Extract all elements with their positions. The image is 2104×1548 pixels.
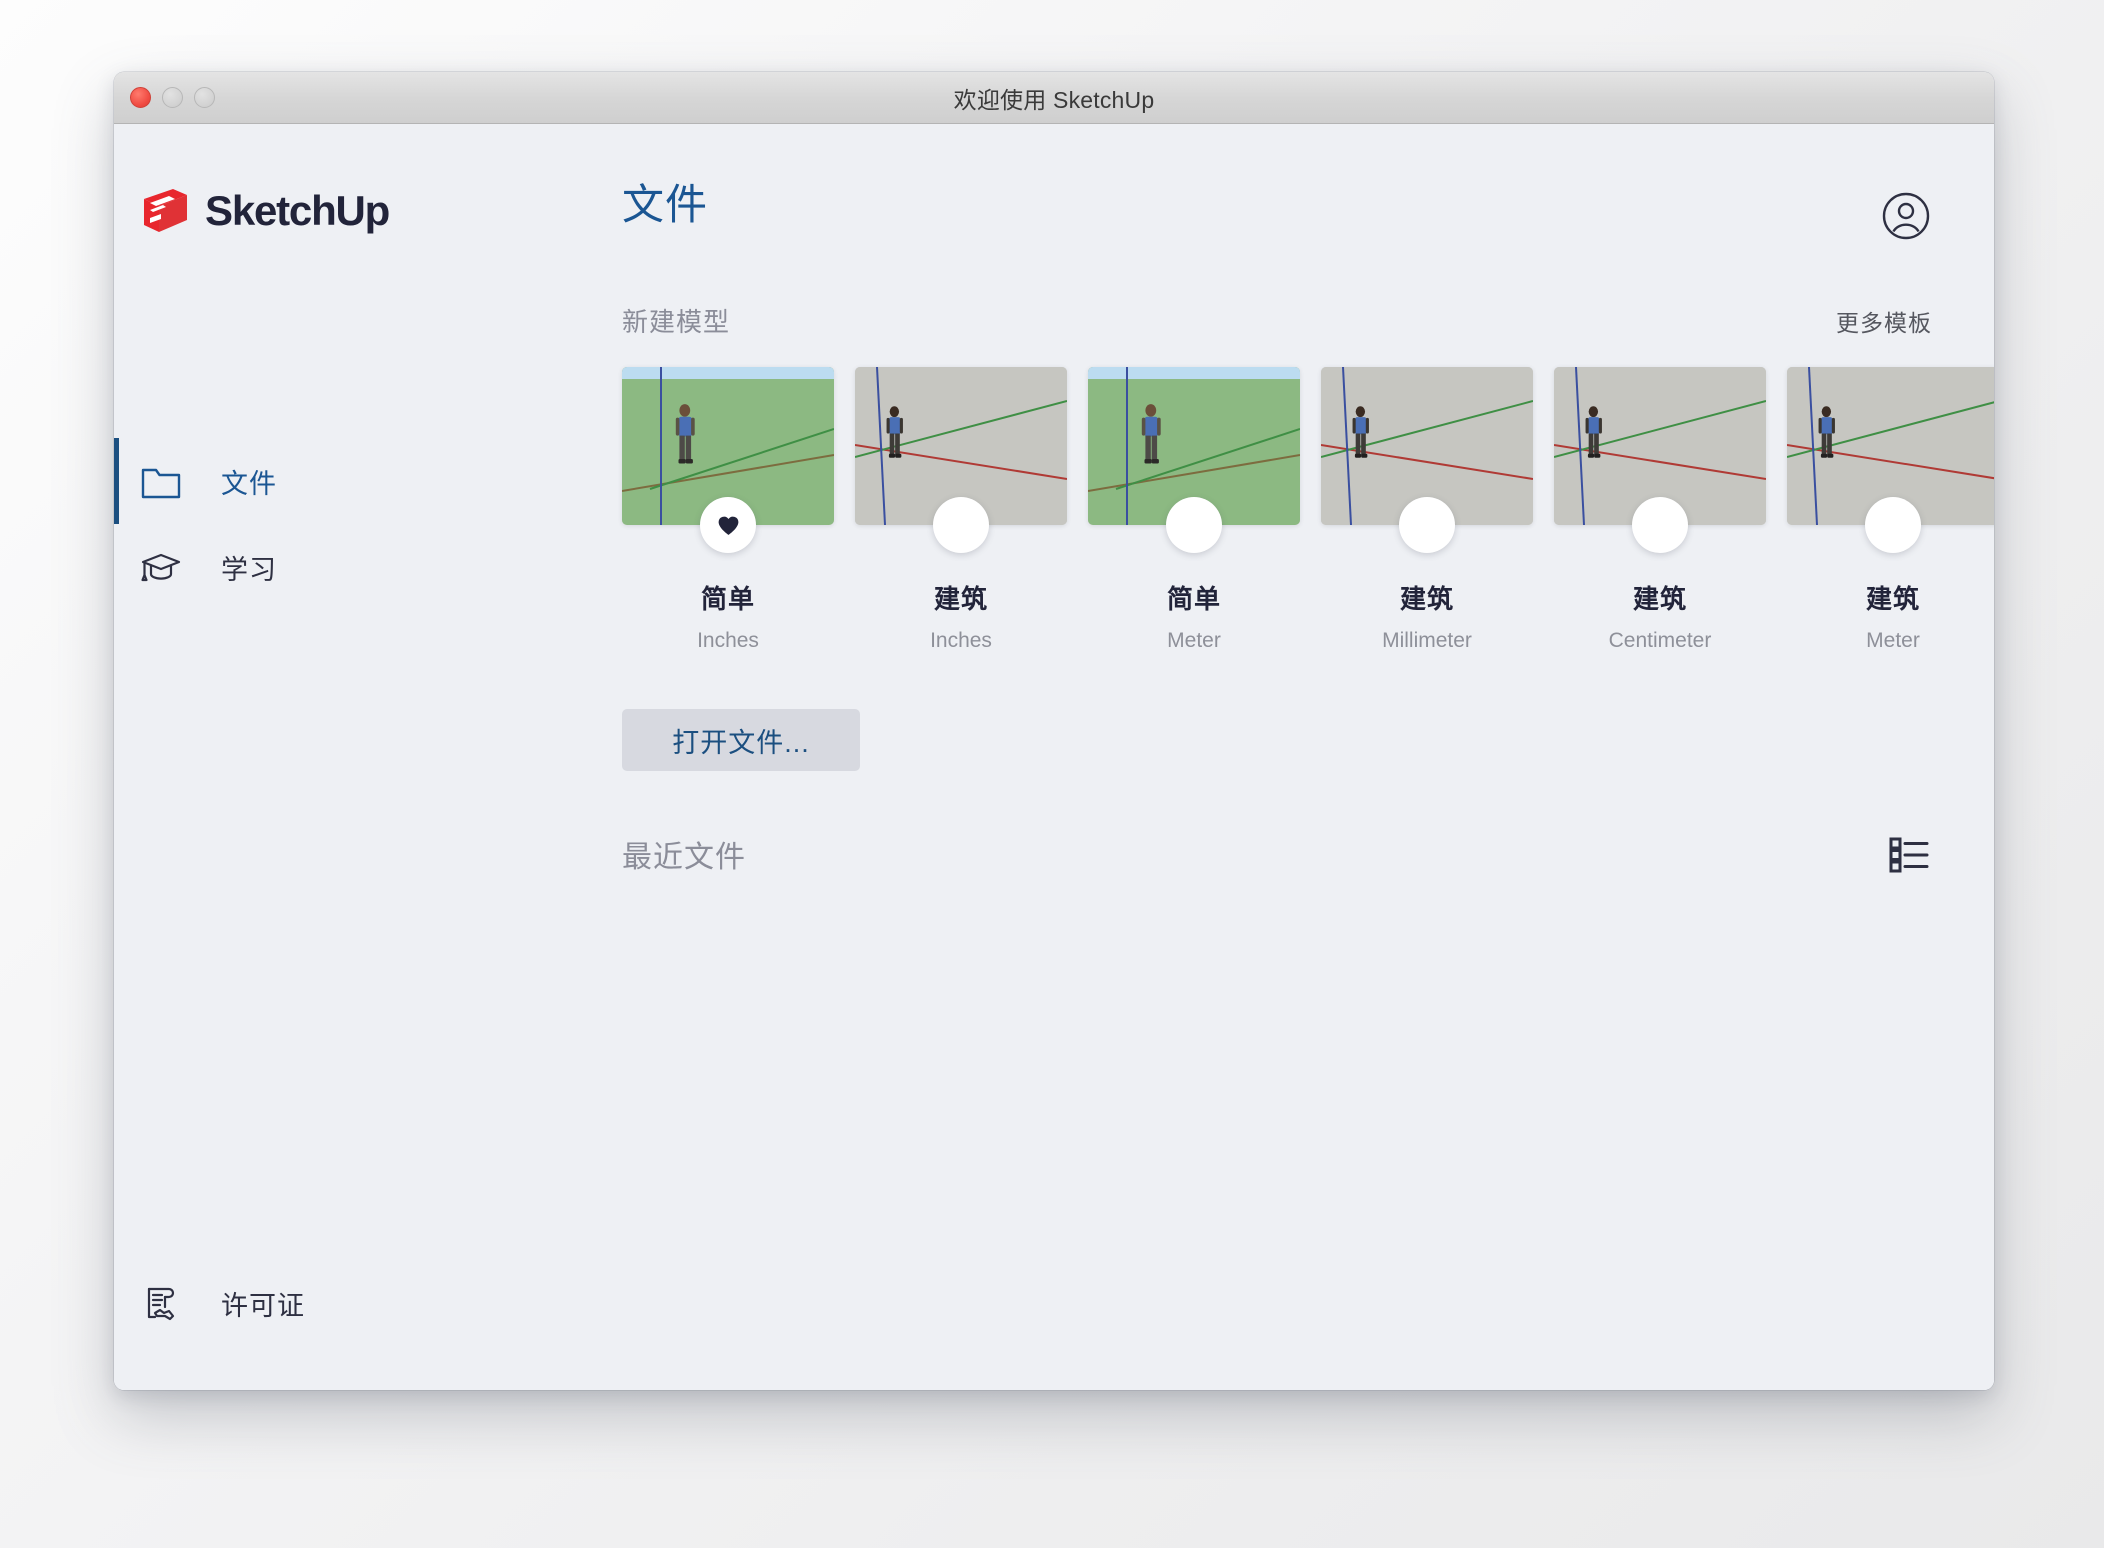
template-unit: Inches	[697, 629, 759, 653]
template-thumbnail-wrap	[1787, 367, 1994, 525]
favorite-badge[interactable]	[1865, 497, 1921, 553]
template-name: 建筑	[1400, 579, 1454, 616]
favorite-badge[interactable]	[933, 497, 989, 553]
window-titlebar: 欢迎使用 SketchUp	[114, 72, 1994, 124]
template-thumbnail-wrap	[855, 367, 1067, 525]
template-name: 简单	[701, 579, 755, 616]
graduation-cap-icon	[139, 545, 183, 589]
sidebar-item-learn[interactable]: 学习	[114, 524, 554, 610]
sidebar-item-learn-label: 学习	[221, 548, 277, 587]
template-unit: Inches	[930, 629, 992, 653]
sidebar: SketchUp 文件	[114, 124, 554, 1390]
new-model-title: 新建模型	[622, 302, 730, 339]
recent-files-list	[622, 877, 1932, 1390]
main-header: 文件	[622, 124, 1932, 242]
brand-logo: SketchUp	[114, 124, 554, 254]
active-indicator-bar	[114, 524, 119, 610]
template-grid: 简单 Inches	[622, 367, 1932, 653]
template-thumbnail-wrap	[1321, 367, 1533, 525]
template-name: 建筑	[1633, 579, 1687, 616]
maximize-window-button[interactable]	[194, 87, 215, 108]
main-content: 文件 新建模型 更多模板	[554, 124, 1994, 1390]
sidebar-item-license[interactable]: 许可证	[114, 1260, 554, 1346]
template-unit: Millimeter	[1382, 629, 1472, 653]
template-unit: Meter	[1167, 629, 1221, 653]
favorite-badge[interactable]	[700, 497, 756, 553]
template-name: 简单	[1167, 579, 1221, 616]
traffic-light-group	[130, 72, 215, 123]
template-unit: Meter	[1866, 629, 1920, 653]
template-card[interactable]: 简单 Inches	[622, 367, 834, 653]
close-window-button[interactable]	[130, 87, 151, 108]
open-file-button[interactable]: 打开文件...	[622, 709, 860, 771]
new-model-section-header: 新建模型 更多模板	[622, 302, 1932, 339]
list-view-icon[interactable]	[1886, 831, 1932, 877]
template-card[interactable]: 建筑 Inches	[855, 367, 1067, 653]
sketchup-welcome-window: 欢迎使用 SketchUp SketchUp	[114, 72, 1994, 1390]
more-templates-link[interactable]: 更多模板	[1836, 304, 1932, 338]
sidebar-nav: 文件 学习	[114, 438, 554, 610]
template-card[interactable]: 简单 Meter	[1088, 367, 1300, 653]
favorite-badge[interactable]	[1399, 497, 1455, 553]
folder-icon	[139, 459, 183, 503]
sidebar-spacer	[114, 610, 554, 1260]
template-card[interactable]: 建筑 Centimeter	[1554, 367, 1766, 653]
window-body: SketchUp 文件	[114, 124, 1994, 1390]
template-thumbnail-wrap	[622, 367, 834, 525]
template-card[interactable]: 建筑 Meter	[1787, 367, 1994, 653]
active-indicator-bar	[114, 1260, 119, 1346]
sketchup-cube-icon	[139, 185, 191, 237]
template-unit: Centimeter	[1609, 629, 1712, 653]
page-title: 文件	[622, 184, 708, 226]
user-circle-icon[interactable]	[1880, 190, 1932, 242]
recent-files-header: 最近文件	[622, 831, 1932, 877]
sidebar-item-license-label: 许可证	[221, 1284, 305, 1323]
template-name: 建筑	[1866, 579, 1920, 616]
favorite-badge[interactable]	[1166, 497, 1222, 553]
brand-name: SketchUp	[205, 187, 389, 235]
template-thumbnail-wrap	[1554, 367, 1766, 525]
favorite-badge[interactable]	[1632, 497, 1688, 553]
license-scroll-icon	[139, 1281, 183, 1325]
sidebar-item-files[interactable]: 文件	[114, 438, 554, 524]
template-thumbnail-wrap	[1088, 367, 1300, 525]
window-title: 欢迎使用 SketchUp	[114, 81, 1994, 115]
template-name: 建筑	[934, 579, 988, 616]
minimize-window-button[interactable]	[162, 87, 183, 108]
sidebar-item-files-label: 文件	[221, 462, 277, 501]
heart-filled-icon	[716, 513, 741, 538]
recent-files-title: 最近文件	[622, 832, 746, 876]
active-indicator-bar	[114, 438, 119, 524]
template-card[interactable]: 建筑 Millimeter	[1321, 367, 1533, 653]
